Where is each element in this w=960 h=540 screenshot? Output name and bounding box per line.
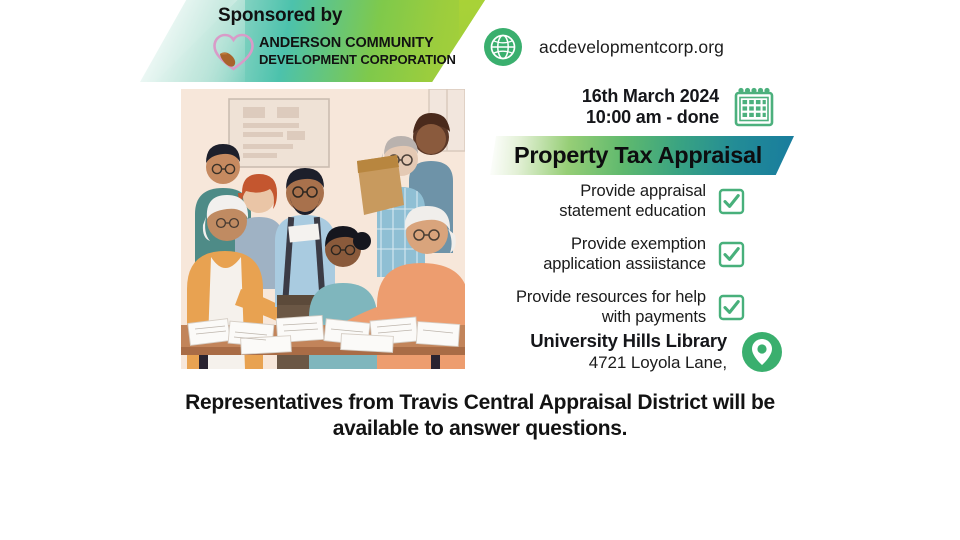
event-datetime-block: 16th March 2024 10:00 am - done [505,86,775,128]
list-item: Provide exemption application assiistanc… [470,234,745,274]
sponsor-org-name: ANDERSON COMMUNITY DEVELOPMENT CORPORATI… [259,35,456,67]
list-item-label: Provide appraisal statement education [559,181,706,221]
sponsored-by-label: Sponsored by [210,5,460,27]
location-text: University Hills Library 4721 Loyola Lan… [530,330,727,373]
website-row[interactable]: acdevelopmentcorp.org [483,27,724,67]
list-item: Provide resources for help with payments [470,287,745,327]
event-datetime-text: 16th March 2024 10:00 am - done [582,86,719,128]
event-date: 16th March 2024 [582,86,719,107]
services-list: Provide appraisal statement education Pr… [470,181,745,340]
event-time: 10:00 am - done [582,107,719,128]
community-meeting-illustration [181,89,465,369]
event-title: Property Tax Appraisal [490,142,794,169]
heart-hand-logo-icon [210,29,257,73]
event-title-banner: Property Tax Appraisal [490,136,794,175]
sponsor-banner: Sponsored by ANDERSON COMMUNITY DEVELOPM… [210,5,460,73]
sponsor-org-line1: ANDERSON COMMUNITY [259,35,434,51]
checkbox-checked-icon [718,188,745,215]
website-url-text[interactable]: acdevelopmentcorp.org [539,37,724,58]
list-item-label: Provide resources for help with payments [516,287,706,327]
footer-note: Representatives from Travis Central Appr… [150,390,810,442]
location-address: 4721 Loyola Lane, [530,352,727,373]
sponsor-logo-row: ANDERSON COMMUNITY DEVELOPMENT CORPORATI… [210,29,460,73]
location-row: University Hills Library 4721 Loyola Lan… [505,330,783,373]
location-name: University Hills Library [530,330,727,352]
globe-icon [483,27,523,67]
checkbox-checked-icon [718,241,745,268]
checkbox-checked-icon [718,294,745,321]
list-item-label: Provide exemption application assiistanc… [543,234,706,274]
sponsor-org-line2: DEVELOPMENT CORPORATION [259,52,456,67]
list-item: Provide appraisal statement education [470,181,745,221]
calendar-icon [733,86,775,128]
map-pin-icon [741,331,783,373]
